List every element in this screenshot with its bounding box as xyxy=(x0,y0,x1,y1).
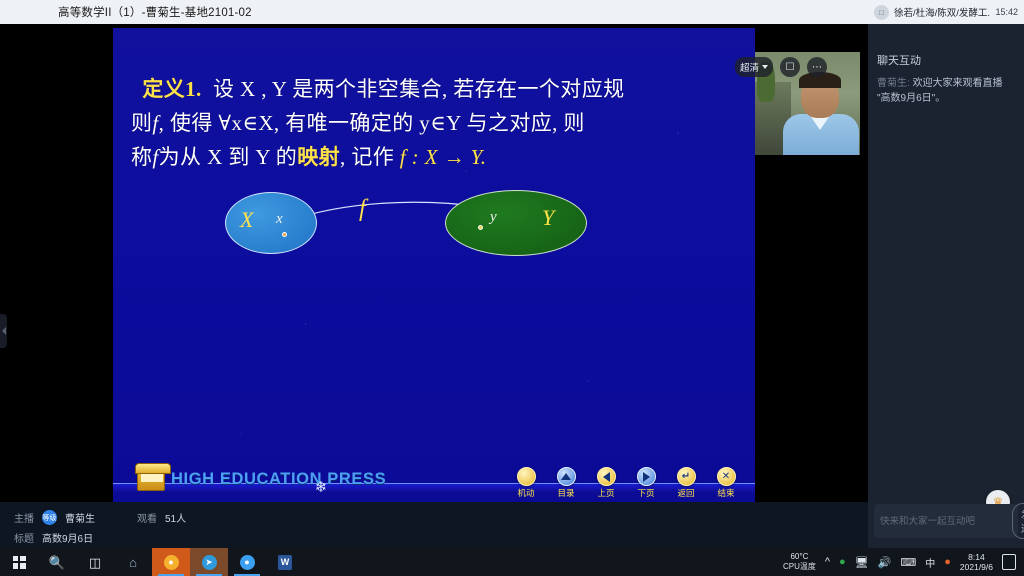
quality-selector[interactable]: 超清 xyxy=(735,57,773,77)
group-avatar: □ xyxy=(874,5,889,20)
window-title: 高等数学II（1）-曹菊生-基地2101-02 xyxy=(58,4,252,20)
task-view-icon[interactable]: ◫ xyxy=(76,548,114,576)
definition-line-1: 定义1. 设 X , Y 是两个非空集合, 若存在一个对应规 xyxy=(131,72,741,106)
set-y-label: Y xyxy=(542,205,554,231)
chevron-down-icon xyxy=(762,65,768,69)
map-f-label: f xyxy=(359,196,366,223)
chat-message-author: 曹菊生: xyxy=(877,78,910,89)
set-x-ellipse: X x xyxy=(225,192,317,254)
cpu-temperature[interactable]: 60°C CPU温度 xyxy=(783,552,816,572)
host-name: 曹菊生 xyxy=(65,510,95,525)
book-chest-icon xyxy=(137,467,165,491)
definition-line-1-text: 设 X , Y 是两个非空集合, 若存在一个对应规 xyxy=(213,77,625,101)
chat-input-row: 发送 xyxy=(874,504,1018,538)
explorer-icon[interactable]: ⌂ xyxy=(114,548,152,576)
pip-presenter xyxy=(785,74,857,155)
definition-line-2c: , 使得 ∀x∈X, 有唯一确定的 y∈Y 与之对应, 则 xyxy=(159,111,585,135)
chevron-up-icon[interactable]: ^ xyxy=(825,556,830,568)
slide-nav-end[interactable]: ✕ 结束 xyxy=(711,467,741,499)
host-row: 主播 等级 曹菊生 观看 51人 xyxy=(14,510,854,525)
close-x-icon: ✕ xyxy=(717,467,736,486)
send-button[interactable]: 发送 xyxy=(1012,503,1024,539)
press-name: HIGH EDUCATION PRESS xyxy=(171,470,386,489)
definition-line-3d: , 记作 xyxy=(340,145,394,169)
notification-icon[interactable] xyxy=(1002,554,1016,570)
video-control-overlay: 超清 ☐ ⋯ xyxy=(735,57,860,77)
cpu-temp-label: CPU温度 xyxy=(783,562,816,572)
stream-title-label: 标题 xyxy=(14,530,34,545)
quality-label: 超清 xyxy=(740,60,759,74)
slide-nav-next-label: 下页 xyxy=(631,487,661,499)
triangle-left-icon xyxy=(597,467,616,486)
windows-taskbar: 🔍 ◫ ⌂ ● ➤ ● W 60°C CPU温度 ^ ● 🖥 🔊 ⌨ 中 ● 8… xyxy=(0,548,1024,576)
volume-icon[interactable]: 🔊 xyxy=(878,556,892,569)
chevron-left-icon xyxy=(2,327,6,335)
slide-nav-prev[interactable]: 上页 xyxy=(591,467,621,499)
app-root: 定义1. 设 X , Y 是两个非空集合, 若存在一个对应规 则f, 使得 ∀x… xyxy=(0,24,1024,548)
chat-section-title: 聊天互动 xyxy=(877,52,921,68)
slide-nav-back-label: 返回 xyxy=(671,487,701,499)
taskbar-clock[interactable]: 8:14 2021/9/6 xyxy=(960,552,993,572)
security-shield-icon[interactable]: ● xyxy=(839,556,846,568)
element-y-label: y xyxy=(490,209,497,226)
element-x-label: x xyxy=(276,211,283,228)
more-dots-icon[interactable]: ⋯ xyxy=(807,57,827,77)
slide-nav-back[interactable]: ↵ 返回 xyxy=(671,467,701,499)
chat-message-list: 曹菊生: 欢迎大家来观看直播 "高数9月6日"。 xyxy=(877,76,1017,106)
title-row: 标题 高数9月6日 xyxy=(14,530,854,545)
keyboard-icon[interactable]: ⌨ xyxy=(900,556,916,569)
word-icon[interactable]: W xyxy=(266,548,304,576)
host-level-badge: 等级 xyxy=(42,510,57,525)
definition-keyword-mapping: 映射 xyxy=(297,145,340,169)
sidebar-collapse-handle[interactable] xyxy=(0,314,7,348)
taskbar-left-group: 🔍 ◫ ⌂ ● ➤ ● W xyxy=(0,548,304,576)
stream-info-bar: 主播 等级 曹菊生 观看 51人 标题 高数9月6日 xyxy=(0,502,868,548)
browser2-icon[interactable]: ● xyxy=(228,548,266,576)
pip-icon[interactable]: ☐ xyxy=(780,57,800,77)
system-tray: 60°C CPU温度 ^ ● 🖥 🔊 ⌨ 中 ● 8:14 2021/9/6 xyxy=(783,548,1024,576)
mapping-diagram: X x Y y f xyxy=(113,178,755,278)
clock-date: 2021/9/6 xyxy=(960,562,993,572)
triangle-right-icon xyxy=(637,467,656,486)
host-label: 主播 xyxy=(14,510,34,525)
windows-start-icon[interactable] xyxy=(0,548,38,576)
stream-title-value: 高数9月6日 xyxy=(42,530,93,545)
definition-line-2a: 则 xyxy=(131,111,152,135)
element-x-dot-icon xyxy=(282,232,287,237)
slide-nav-next[interactable]: 下页 xyxy=(631,467,661,499)
element-y-dot-icon xyxy=(478,225,483,230)
slide-nav-buttons: 机动 目录 上页 下页 ↵ xyxy=(511,467,741,499)
set-x-label: X xyxy=(240,207,253,233)
definition-line-3: 称f为从 X 到 Y 的映射, 记作 f : X → Y. xyxy=(131,140,741,174)
slide-nav-end-label: 结束 xyxy=(711,487,741,499)
definition-formula: f : X → Y. xyxy=(400,145,487,169)
chat-header-title: 徐若/杜海/陈双/发酵工... xyxy=(894,5,990,19)
cpu-temp-value: 60°C xyxy=(783,552,816,562)
slide-nav-jidong[interactable]: 机动 xyxy=(511,467,541,499)
sogou-icon[interactable]: ● xyxy=(944,556,951,568)
telegram-icon[interactable]: ➤ xyxy=(190,548,228,576)
ime-indicator[interactable]: 中 xyxy=(925,555,935,570)
press-logo: HIGH EDUCATION PRESS xyxy=(137,467,386,491)
slide-nav-jidong-label: 机动 xyxy=(511,487,541,499)
search-icon[interactable]: 🔍 xyxy=(38,548,76,576)
monitor-icon[interactable]: 🖥 xyxy=(855,556,869,569)
set-y-ellipse: Y y xyxy=(445,190,587,256)
slide-nav-prev-label: 上页 xyxy=(591,487,621,499)
return-arrow-icon: ↵ xyxy=(677,467,696,486)
definition-line-3a: 称 xyxy=(131,145,152,169)
definition-line-2: 则f, 使得 ∀x∈X, 有唯一确定的 y∈Y 与之对应, 则 xyxy=(131,106,741,140)
circle-glow-icon xyxy=(517,467,536,486)
chat-panel-header: □ 徐若/杜海/陈双/发酵工... 15:42 xyxy=(868,0,1024,24)
definition-line-3c: 为从 X 到 Y 的 xyxy=(159,145,298,169)
viewers-label: 观看 xyxy=(137,510,157,525)
viewers-count: 51人 xyxy=(165,510,186,525)
slide-definition-text: 定义1. 设 X , Y 是两个非空集合, 若存在一个对应规 则f, 使得 ∀x… xyxy=(131,72,741,174)
presentation-slide[interactable]: 定义1. 设 X , Y 是两个非空集合, 若存在一个对应规 则f, 使得 ∀x… xyxy=(113,28,755,502)
chat-input[interactable] xyxy=(880,516,1012,527)
chat-header-time: 15:42 xyxy=(995,7,1018,17)
chat-message: 曹菊生: 欢迎大家来观看直播 "高数9月6日"。 xyxy=(877,76,1017,106)
video-stage: 定义1. 设 X , Y 是两个非空集合, 若存在一个对应规 则f, 使得 ∀x… xyxy=(0,24,868,502)
clock-time: 8:14 xyxy=(960,552,993,562)
definition-label: 定义1. xyxy=(142,77,201,101)
slide-nav-contents-label: 目录 xyxy=(551,487,581,499)
slide-footer: HIGH EDUCATION PRESS ❄ 机动 目录 上页 xyxy=(113,457,755,502)
fan-icon: ❄ xyxy=(313,480,329,496)
triangle-up-icon xyxy=(557,467,576,486)
chat-panel: □ 徐若/杜海/陈双/发酵工... 15:42 聊天互动 曹菊生: 欢迎大家来观… xyxy=(868,24,1024,548)
slide-nav-contents[interactable]: 目录 xyxy=(551,467,581,499)
browser-icon[interactable]: ● xyxy=(152,548,190,576)
